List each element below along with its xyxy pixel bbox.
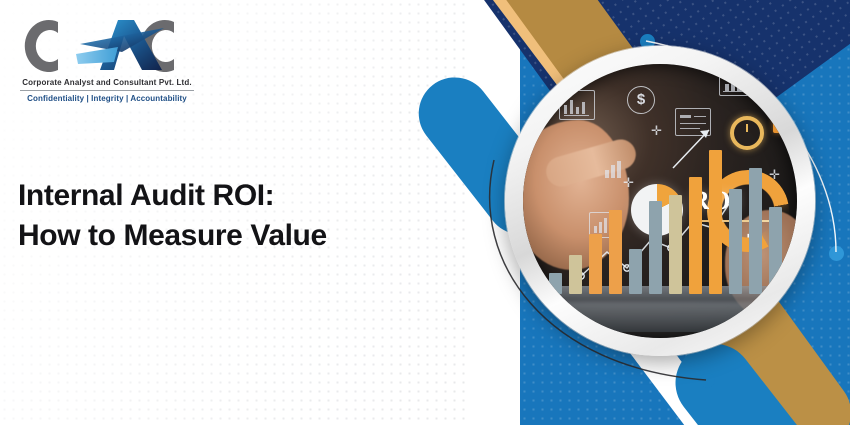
logo-block[interactable]: Corporate Analyst and Consultant Pvt. Lt…: [14, 14, 200, 103]
bar-chart: [543, 144, 793, 294]
logo-tagline: Confidentiality | Integrity | Accountabi…: [14, 94, 200, 103]
headline-line-1: Internal Audit ROI:: [18, 179, 274, 212]
headline-line-2: How to Measure Value: [18, 216, 418, 256]
cac-logo-mark: [14, 14, 200, 76]
page-title: Internal Audit ROI: How to Measure Value: [18, 176, 418, 256]
lens-glass: $: [523, 64, 797, 338]
magnifier-lens: $: [505, 46, 815, 356]
cac-logo-icon: [14, 14, 200, 76]
logo-company-name: Corporate Analyst and Consultant Pvt. Lt…: [14, 78, 200, 87]
banner-root: $: [0, 0, 850, 425]
logo-divider: [20, 90, 194, 91]
